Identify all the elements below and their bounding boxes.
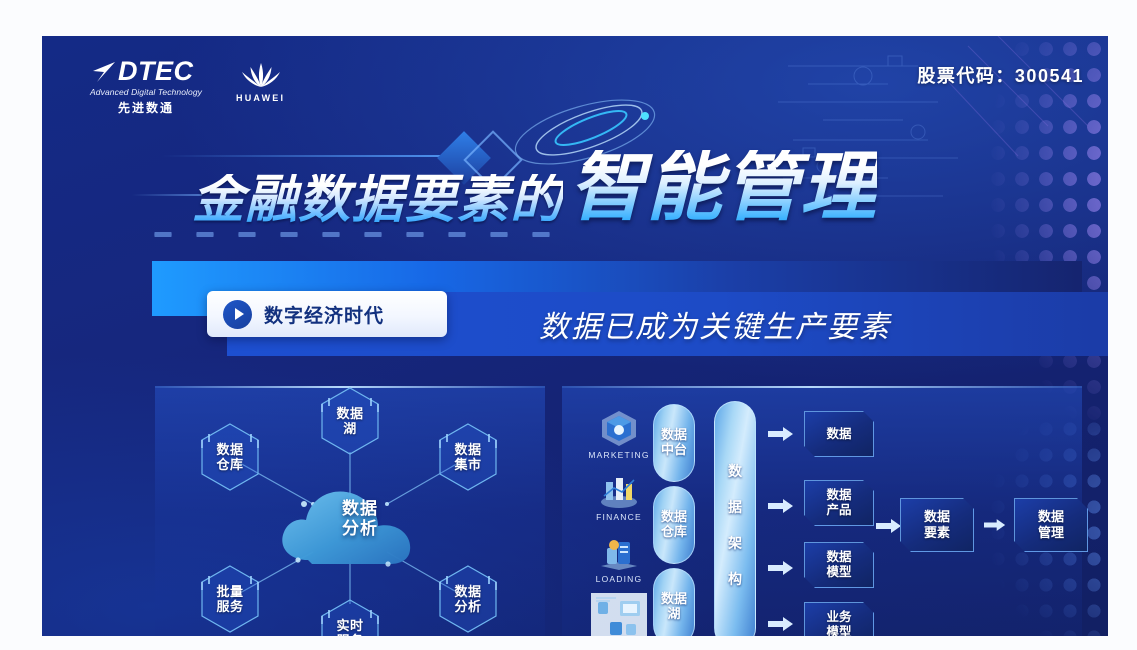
store-label-line2: 仓库 bbox=[661, 525, 687, 540]
arrow-right-icon bbox=[768, 498, 794, 514]
dtec-tagline: Advanced Digital Technology bbox=[90, 87, 202, 97]
store-data-midplatform[interactable]: 数据 中台 bbox=[653, 404, 695, 482]
output-label-line2: 产品 bbox=[826, 503, 851, 518]
final-data-element[interactable]: 数据 要素 bbox=[900, 498, 974, 552]
finance-chart-icon bbox=[596, 470, 642, 510]
tab-label: 数字经济时代 bbox=[264, 301, 384, 328]
slide-canvas: DTEC Advanced Digital Technology 先进数通 HU… bbox=[42, 36, 1108, 636]
arrow-right-icon bbox=[768, 616, 794, 632]
output-label-line1: 数据 bbox=[826, 550, 851, 565]
dtec-logo: DTEC Advanced Digital Technology 先进数通 bbox=[90, 58, 202, 116]
play-icon bbox=[223, 300, 252, 329]
final-label-line1: 数据 bbox=[1038, 509, 1064, 525]
tab-digital-economy[interactable]: 数字经济时代 bbox=[207, 291, 447, 337]
node-label-line2: 分析 bbox=[454, 599, 481, 614]
store-label-line1: 数据 bbox=[661, 510, 687, 525]
data-terminal-icon bbox=[590, 592, 648, 636]
node-batch-service[interactable]: 批量 服务 bbox=[199, 564, 261, 634]
node-label-line1: 批量 bbox=[216, 584, 243, 599]
source-marketing[interactable]: MARKETING bbox=[592, 408, 646, 460]
node-label-line1: 数据 bbox=[336, 406, 363, 421]
dtec-chinese-name: 先进数通 bbox=[90, 99, 202, 116]
source-caption: FINANCE bbox=[596, 512, 642, 522]
dtec-mark-icon bbox=[90, 60, 116, 84]
dtec-wordmark: DTEC bbox=[118, 58, 194, 85]
brand-logos: DTEC Advanced Digital Technology 先进数通 HU… bbox=[90, 58, 285, 116]
source-loading[interactable]: LOADING bbox=[592, 532, 646, 584]
huawei-wordmark: HUAWEI bbox=[236, 93, 285, 103]
node-label-line2: 湖 bbox=[343, 421, 357, 436]
page-title-part1: 金融数据要素的 bbox=[192, 174, 563, 226]
page-title-part2: 智能管理 bbox=[569, 150, 877, 226]
tower-char-2: 据 bbox=[728, 497, 742, 517]
output-data-product[interactable]: 数据 产品 bbox=[804, 480, 874, 526]
title-dot-row bbox=[142, 232, 562, 237]
marketing-cube-icon bbox=[596, 408, 642, 448]
final-data-management[interactable]: 数据 管理 bbox=[1014, 498, 1088, 552]
store-label-line2: 中台 bbox=[661, 443, 687, 458]
cloud-center-label: 数据 分析 bbox=[314, 499, 406, 539]
node-data-mart[interactable]: 数据 集市 bbox=[437, 422, 499, 492]
store-label-line1: 数据 bbox=[661, 428, 687, 443]
banner-headline: 数据已成为关键生产要素 bbox=[539, 302, 891, 346]
output-data[interactable]: 数据 bbox=[804, 411, 874, 457]
node-label-line1: 数据 bbox=[454, 584, 481, 599]
tower-char-1: 数 bbox=[728, 461, 742, 481]
arrow-right-icon bbox=[768, 426, 794, 442]
output-label-line2: 模型 bbox=[826, 625, 851, 636]
store-label-line2: 湖 bbox=[661, 607, 687, 622]
source-caption: MARKETING bbox=[588, 450, 649, 460]
output-label-line1: 数据 bbox=[826, 427, 851, 442]
page-title: 金融数据要素的 智能管理 bbox=[192, 150, 877, 226]
node-label-line1: 数据 bbox=[216, 442, 243, 457]
arrow-right-icon bbox=[876, 518, 902, 534]
loading-server-icon bbox=[596, 532, 642, 572]
node-label-line2: 集市 bbox=[454, 457, 481, 472]
arrow-right-icon bbox=[768, 560, 794, 576]
final-label-line1: 数据 bbox=[924, 509, 950, 525]
final-label-line2: 管理 bbox=[1038, 525, 1064, 541]
tower-char-3: 架 bbox=[728, 533, 742, 553]
source-terminal[interactable] bbox=[590, 592, 648, 636]
final-label-line2: 要素 bbox=[924, 525, 950, 541]
node-realtime-service[interactable]: 实时 服务 bbox=[319, 598, 381, 636]
huawei-logo: HUAWEI bbox=[236, 62, 285, 103]
output-data-model[interactable]: 数据 模型 bbox=[804, 542, 874, 588]
source-caption: LOADING bbox=[596, 574, 643, 584]
output-business-model[interactable]: 业务 模型 bbox=[804, 602, 874, 636]
cloud-label-line2: 分析 bbox=[314, 519, 406, 539]
output-label-line1: 数据 bbox=[826, 488, 851, 503]
node-data-analysis[interactable]: 数据 分析 bbox=[437, 564, 499, 634]
node-label-line2: 仓库 bbox=[216, 457, 243, 472]
stock-code: 股票代码：300541 bbox=[917, 62, 1084, 88]
output-label-line1: 业务 bbox=[826, 610, 851, 625]
node-label-line1: 实时 bbox=[336, 618, 363, 633]
store-label-line1: 数据 bbox=[661, 592, 687, 607]
node-label-line2: 服务 bbox=[216, 599, 243, 614]
cloud-label-line1: 数据 bbox=[314, 499, 406, 519]
node-data-lake[interactable]: 数据 湖 bbox=[319, 386, 381, 456]
arrow-right-icon bbox=[984, 518, 1006, 532]
source-finance[interactable]: FINANCE bbox=[592, 470, 646, 522]
node-data-warehouse[interactable]: 数据 仓库 bbox=[199, 422, 261, 492]
tower-char-4: 构 bbox=[728, 569, 742, 589]
node-label-line2: 服务 bbox=[336, 633, 363, 636]
store-data-lake[interactable]: 数据 湖 bbox=[653, 568, 695, 636]
data-architecture-tower[interactable]: 数 据 架 构 bbox=[714, 401, 756, 636]
store-data-warehouse[interactable]: 数据 仓库 bbox=[653, 486, 695, 564]
output-label-line2: 模型 bbox=[826, 565, 851, 580]
huawei-flower-icon bbox=[240, 62, 282, 88]
node-label-line1: 数据 bbox=[454, 442, 481, 457]
